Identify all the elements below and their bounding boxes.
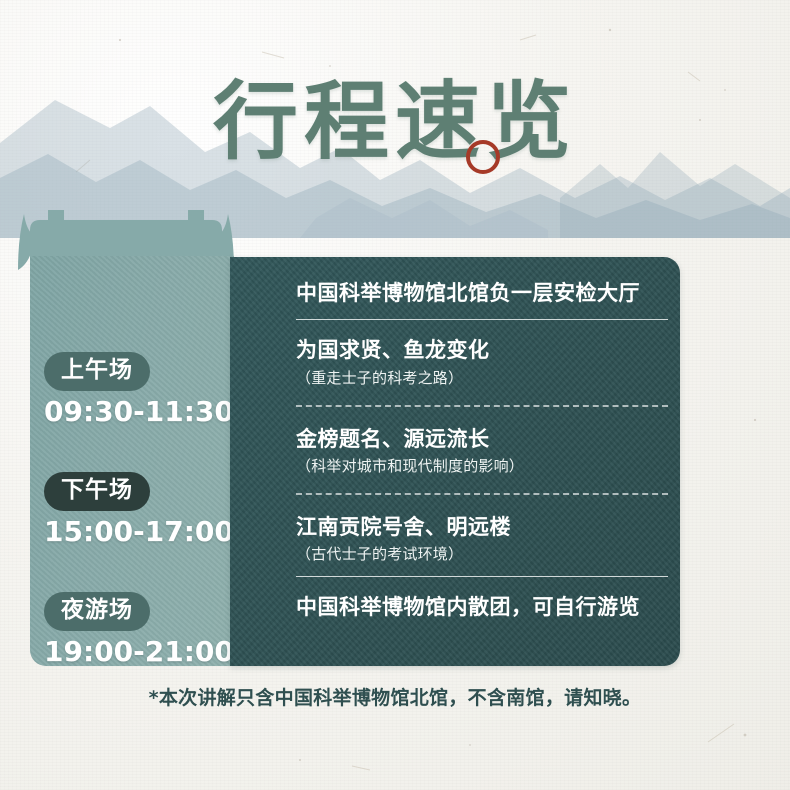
slot-morning: 上午场 09:30-11:30 bbox=[30, 352, 234, 428]
schedule-sidebar: 上午场 09:30-11:30 下午场 15:00-17:00 夜游场 19:0… bbox=[18, 198, 234, 666]
itinerary-entry-title: 金榜题名、源远流长 bbox=[296, 425, 664, 453]
itinerary-entry-subtitle: （古代士子的考试环境） bbox=[296, 543, 664, 564]
slot-afternoon-time: 15:00-17:00 bbox=[44, 515, 234, 548]
itinerary-divider-dashed bbox=[296, 493, 668, 495]
itinerary-entry: 金榜题名、源远流长 （科举对城市和现代制度的影响） bbox=[296, 425, 664, 476]
itinerary-divider-solid bbox=[296, 576, 668, 577]
itinerary-divider-dashed bbox=[296, 405, 668, 407]
footnote: *本次讲解只含中国科举博物馆北馆，不含南馆，请知晓。 bbox=[0, 683, 790, 710]
itinerary-entry: 为国求贤、鱼龙变化 （重走士子的科考之路） bbox=[296, 336, 664, 387]
itinerary-entry: 中国科举博物馆内散团，可自行游览 bbox=[296, 593, 664, 621]
itinerary-entry-subtitle: （科举对城市和现代制度的影响） bbox=[296, 455, 664, 476]
slot-evening-label: 夜游场 bbox=[44, 592, 150, 631]
slot-evening: 夜游场 19:00-21:00 bbox=[30, 592, 234, 668]
itinerary-entry: 中国科举博物馆北馆负一层安检大厅 bbox=[296, 279, 664, 307]
slot-evening-time: 19:00-21:00 bbox=[44, 635, 234, 668]
page-title-text: 行程速览 bbox=[213, 78, 577, 167]
itinerary-entry-title: 为国求贤、鱼龙变化 bbox=[296, 336, 664, 364]
slot-morning-time: 09:30-11:30 bbox=[44, 395, 234, 428]
schedule-sidebar-body: 上午场 09:30-11:30 下午场 15:00-17:00 夜游场 19:0… bbox=[30, 256, 234, 666]
itinerary-entry-list: 中国科举博物馆北馆负一层安检大厅 为国求贤、鱼龙变化 （重走士子的科考之路） 金… bbox=[296, 279, 664, 622]
itinerary-divider-solid bbox=[296, 319, 668, 320]
page-title: 行程速览 bbox=[0, 78, 790, 167]
itinerary-entry-title: 江南贡院号舍、明远楼 bbox=[296, 513, 664, 541]
itinerary-panel: 中国科举博物馆北馆负一层安检大厅 为国求贤、鱼龙变化 （重走士子的科考之路） 金… bbox=[230, 257, 680, 666]
itinerary-entry-title: 中国科举博物馆北馆负一层安检大厅 bbox=[296, 279, 664, 307]
title-accent-circle-icon bbox=[466, 140, 500, 174]
itinerary-entry: 江南贡院号舍、明远楼 （古代士子的考试环境） bbox=[296, 513, 664, 564]
slot-afternoon-label: 下午场 bbox=[44, 472, 150, 511]
slot-afternoon: 下午场 15:00-17:00 bbox=[30, 472, 234, 548]
itinerary-entry-title: 中国科举博物馆内散团，可自行游览 bbox=[296, 593, 664, 621]
itinerary-entry-subtitle: （重走士子的科考之路） bbox=[296, 367, 664, 388]
slot-morning-label: 上午场 bbox=[44, 352, 150, 391]
